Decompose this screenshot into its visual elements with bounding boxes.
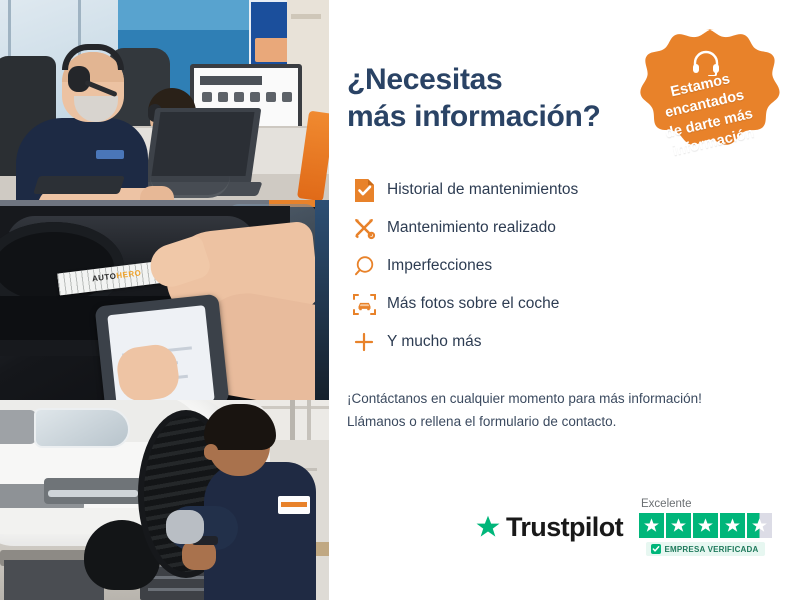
contact-text: ¡Contáctanos en cualquier momento para m… [347,387,787,433]
mechanic-uniform-logo [278,496,310,514]
magnifier-icon [347,251,381,281]
status-badge: Estamos encantados de darte más informac… [627,26,785,184]
mechanic-ear [204,444,218,460]
mechanic-glove [166,510,204,544]
feature-list: Historial de mantenimientos M [347,171,799,361]
list-item: Más fotos sobre el coche [347,285,799,323]
headline-line-2: más información? [347,100,601,133]
star-filled [666,513,691,538]
photo-strip: AUTOHERO [0,0,329,600]
star-filled [720,513,745,538]
keyboard [33,176,125,194]
list-item: Mantenimiento realizado [347,209,799,247]
rating-label: Excelente [641,498,692,510]
car-photo-frame-icon [347,289,381,319]
list-item-label: Historial de mantenimientos [387,181,578,199]
headset-earcup [68,66,90,92]
status-badge: EMPRESA VERIFICADA [646,542,766,556]
star-filled [693,513,718,538]
promo-banner: AUTOHERO [0,0,799,600]
star-half [747,513,772,538]
car-inspection-ruler-photo: AUTOHERO [0,200,329,400]
promo-content: ¿Necesitas más información? Historial de… [329,0,799,600]
plus-icon [347,327,381,357]
contact-line-1: ¡Contáctanos en cualquier momento para m… [347,387,787,410]
list-item-label: Mantenimiento realizado [387,219,556,237]
list-item: Y mucho más [347,323,799,361]
document-check-icon [347,175,381,205]
trustpilot-rating[interactable]: Trustpilot Excelente [475,498,772,556]
list-item-label: Imperfecciones [387,257,492,275]
trustpilot-wordmark: Trustpilot [506,512,623,543]
headline-line-1: ¿Necesitas [347,63,502,96]
list-item-label: Más fotos sobre el coche [387,295,559,313]
background-edge [315,200,329,400]
contact-line-2: Llámanos o rellena el formulario de cont… [347,410,787,433]
verified-check-icon [651,544,661,554]
call-center-agents-photo [0,0,329,200]
tools-cross-icon [347,213,381,243]
verified-label: EMPRESA VERIFICADA [665,545,759,554]
main-agent-hand [140,186,174,200]
list-item-label: Y mucho más [387,333,481,351]
page-title: ¿Necesitas más información? [347,62,647,135]
trustpilot-star-icon [475,514,501,540]
list-item: Imperfecciones [347,247,799,285]
mechanic-tire-check-photo [0,400,329,600]
trustpilot-logo[interactable]: Trustpilot [475,512,623,543]
star-rating [639,513,772,538]
car-grille [0,410,36,444]
chrome-trim [48,490,138,497]
uniform-logo [96,150,124,159]
star-filled [639,513,664,538]
laptop-screen [152,112,255,176]
trustpilot-score: Excelente [639,498,772,556]
car-headlight [34,408,130,448]
